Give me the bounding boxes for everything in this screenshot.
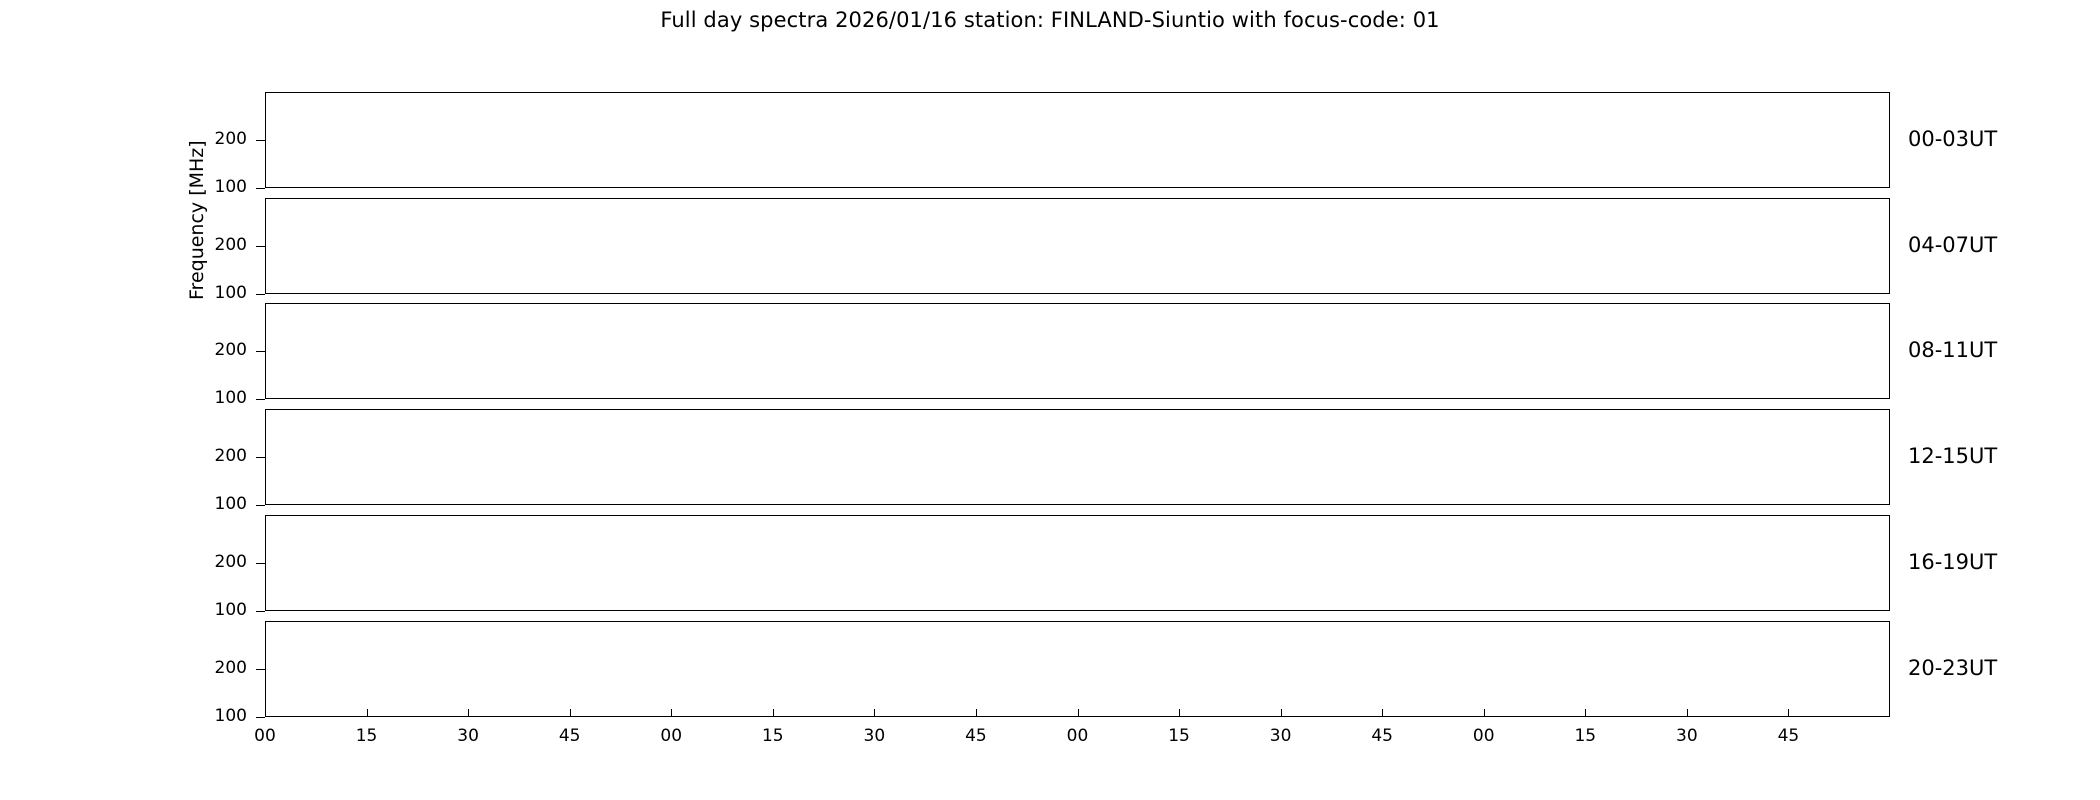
x-axis-tick-label: 00 bbox=[1067, 726, 1089, 746]
y-axis-tick-label: 100 bbox=[191, 285, 247, 302]
x-axis-tick-label: 30 bbox=[864, 726, 886, 746]
y-axis-tick bbox=[256, 188, 265, 189]
spectrogram-row-20-23ut: 200100 bbox=[265, 621, 1890, 717]
spectrogram-figure: Full day spectra 2026/01/16 station: FIN… bbox=[0, 0, 2100, 800]
y-axis-label: Frequency [MHz] bbox=[186, 140, 208, 300]
y-axis-tick-label: 200 bbox=[191, 448, 247, 465]
x-axis-tick-label: 15 bbox=[356, 726, 378, 746]
y-axis-tick bbox=[256, 717, 265, 718]
y-axis-tick-label: 100 bbox=[191, 496, 247, 513]
row-label-04-07ut: 04-07UT bbox=[1908, 233, 1997, 257]
x-axis-tick-label: 30 bbox=[1270, 726, 1292, 746]
x-axis-tick bbox=[874, 709, 875, 716]
x-axis-tick-label: 00 bbox=[1473, 726, 1495, 746]
x-axis-tick-label: 00 bbox=[254, 726, 276, 746]
x-axis-tick bbox=[1585, 709, 1586, 716]
row-frame bbox=[265, 515, 1890, 611]
y-axis-tick bbox=[256, 505, 265, 506]
row-label-12-15ut: 12-15UT bbox=[1908, 444, 1997, 468]
row-label-08-11ut: 08-11UT bbox=[1908, 338, 1997, 362]
x-axis: 00153045001530450015304500153045 bbox=[265, 716, 1890, 756]
x-axis-tick bbox=[570, 709, 571, 716]
row-frame bbox=[265, 621, 1890, 717]
x-axis-tick-label: 15 bbox=[1574, 726, 1596, 746]
x-axis-tick bbox=[468, 709, 469, 716]
x-axis-tick bbox=[773, 709, 774, 716]
x-axis-tick-label: 00 bbox=[660, 726, 682, 746]
x-axis-tick-label: 15 bbox=[762, 726, 784, 746]
x-axis-tick bbox=[1078, 709, 1079, 716]
y-axis-tick bbox=[256, 611, 265, 612]
spectrogram-row-16-19ut: 200100 bbox=[265, 515, 1890, 611]
y-axis-tick-label: 200 bbox=[191, 554, 247, 571]
y-axis-tick bbox=[256, 294, 265, 295]
row-frame bbox=[265, 303, 1890, 399]
y-axis-tick-label: 200 bbox=[191, 342, 247, 359]
x-axis-tick-label: 45 bbox=[965, 726, 987, 746]
y-axis-tick bbox=[256, 669, 265, 670]
y-axis-tick bbox=[256, 457, 265, 458]
y-axis-tick bbox=[256, 246, 265, 247]
y-axis-tick bbox=[256, 399, 265, 400]
page-title: Full day spectra 2026/01/16 station: FIN… bbox=[0, 8, 2100, 32]
x-axis-tick bbox=[1788, 709, 1789, 716]
spectrogram-row-00-03ut: 200100 bbox=[265, 92, 1890, 188]
x-axis-tick bbox=[976, 709, 977, 716]
y-axis-tick-label: 100 bbox=[191, 602, 247, 619]
row-frame bbox=[265, 409, 1890, 505]
spectrogram-row-12-15ut: 200100 bbox=[265, 409, 1890, 505]
x-axis-tick bbox=[367, 709, 368, 716]
x-axis-tick bbox=[1687, 709, 1688, 716]
spectrogram-row-08-11ut: 200100 bbox=[265, 303, 1890, 399]
y-axis-tick bbox=[256, 140, 265, 141]
row-frame bbox=[265, 92, 1890, 188]
y-axis-tick bbox=[256, 351, 265, 352]
y-axis-tick bbox=[256, 563, 265, 564]
y-axis-tick-label: 200 bbox=[191, 131, 247, 148]
x-axis-tick bbox=[265, 709, 266, 716]
spectrogram-row-04-07ut: 200100 bbox=[265, 198, 1890, 294]
x-axis-tick-label: 30 bbox=[457, 726, 479, 746]
x-axis-tick-label: 30 bbox=[1676, 726, 1698, 746]
y-axis-tick-label: 100 bbox=[191, 179, 247, 196]
x-axis-tick bbox=[1484, 709, 1485, 716]
row-label-20-23ut: 20-23UT bbox=[1908, 656, 1997, 680]
y-axis-tick-label: 100 bbox=[191, 390, 247, 407]
x-axis-tick-label: 45 bbox=[1778, 726, 1800, 746]
x-axis-tick bbox=[1382, 709, 1383, 716]
row-label-16-19ut: 16-19UT bbox=[1908, 550, 1997, 574]
row-frame bbox=[265, 198, 1890, 294]
x-axis-tick-label: 45 bbox=[559, 726, 581, 746]
x-axis-tick bbox=[1179, 709, 1180, 716]
x-axis-tick bbox=[671, 709, 672, 716]
y-axis-tick-label: 200 bbox=[191, 660, 247, 677]
x-axis-tick-label: 15 bbox=[1168, 726, 1190, 746]
y-axis-tick-label: 200 bbox=[191, 237, 247, 254]
x-axis-tick-label: 45 bbox=[1371, 726, 1393, 746]
row-label-00-03ut: 00-03UT bbox=[1908, 127, 1997, 151]
y-axis-tick-label: 100 bbox=[191, 708, 247, 725]
x-axis-tick bbox=[1281, 709, 1282, 716]
